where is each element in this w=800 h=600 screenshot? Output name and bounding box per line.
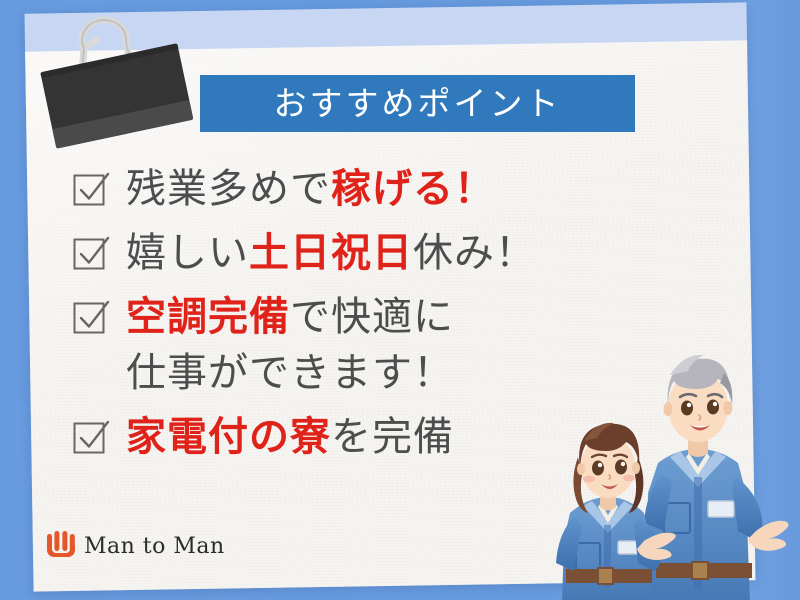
brand-logo: Man to Man <box>47 531 225 561</box>
checkbox-checked-icon <box>72 419 110 457</box>
benefit-plain: を完備 <box>331 414 454 460</box>
benefit-highlight: 家電付の寮 <box>126 414 331 460</box>
benefit-item: 嬉しい土日祝日休み！ <box>72 226 672 281</box>
benefit-line: 嬉しい土日祝日休み！ <box>126 226 672 281</box>
checkbox-checked-icon <box>72 171 110 209</box>
checkbox-checked-icon <box>72 235 110 273</box>
benefit-plain: 仕事ができます！ <box>126 350 454 396</box>
benefit-plain: 嬉しい <box>126 230 249 276</box>
man-to-man-mark-icon <box>47 531 75 561</box>
banner-title: おすすめポイント <box>274 87 562 120</box>
worker-characters-illustration <box>540 345 800 600</box>
poster-canvas: おすすめポイント 残業多めで稼げる！嬉しい土日祝日休み！空調完備で快適に仕事がで… <box>0 0 800 600</box>
benefit-line: 空調完備で快適に <box>126 290 672 345</box>
benefit-line: 残業多めで稼げる！ <box>126 162 672 217</box>
benefit-plain: で快適に <box>290 294 454 340</box>
benefit-highlight: 土日祝日 <box>249 230 413 276</box>
benefit-text: 嬉しい土日祝日休み！ <box>126 226 672 281</box>
logo-text: Man to Man <box>84 534 225 559</box>
recommend-points-banner: おすすめポイント <box>200 75 635 132</box>
benefit-item: 残業多めで稼げる！ <box>72 162 672 217</box>
benefit-plain: 残業多めで <box>126 166 331 212</box>
benefit-text: 残業多めで稼げる！ <box>126 162 672 217</box>
benefit-highlight: 稼げる！ <box>331 166 495 212</box>
benefit-plain: 休み！ <box>413 230 536 276</box>
binder-clip-icon <box>22 0 222 166</box>
benefit-highlight: 空調完備 <box>126 294 290 340</box>
checkbox-checked-icon <box>72 299 110 337</box>
